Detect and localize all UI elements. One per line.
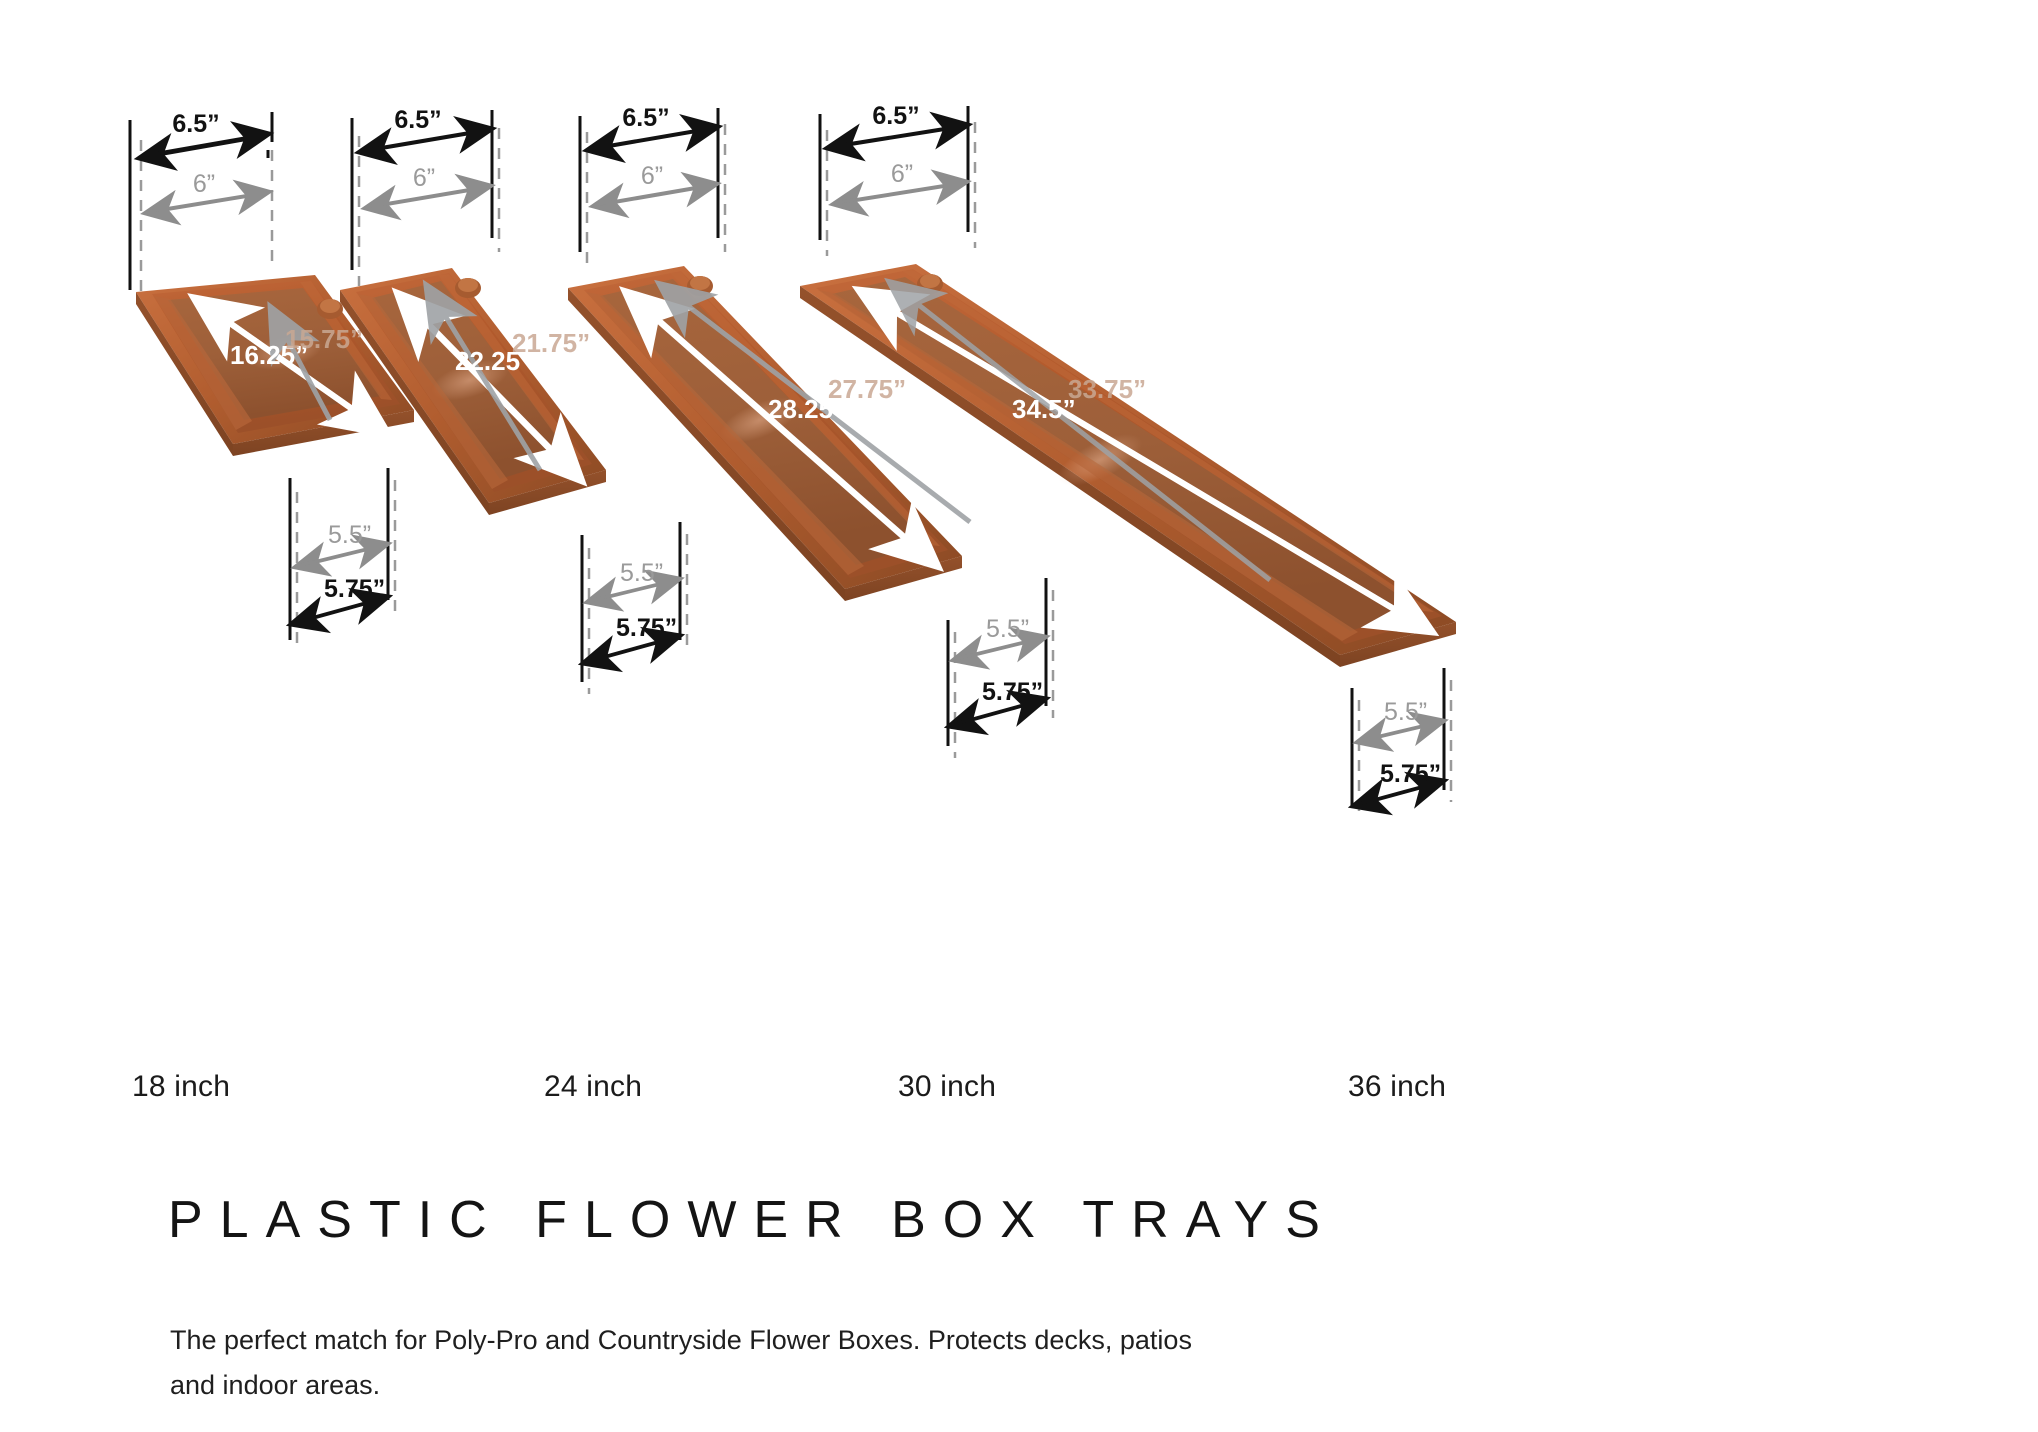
dimension-length-inner-24: 21.75” (512, 328, 590, 358)
dimension-top-inner-36: 6” (891, 160, 913, 188)
top-dimension-callout-18: 6.5” 6” (130, 110, 272, 300)
dimension-top-outer-24: 6.5” (394, 106, 441, 134)
dimension-bottom-outer-36: 5.75” (1380, 760, 1441, 788)
product-spec-diagram: 6.5” 6” 16.25” 15 (0, 0, 2038, 1432)
dimension-top-outer-36: 6.5” (872, 102, 919, 130)
tray-group-36-inch: 6.5” 6” 34.5” 33.75” (800, 102, 1456, 818)
bottom-dimension-callout-36: 5.5” 5.75” (1352, 668, 1451, 818)
dimension-length-inner-18: 15.75” (285, 324, 363, 354)
dimension-top-inner-24: 6” (413, 164, 435, 192)
top-dimension-callout-36: 6.5” 6” (820, 102, 975, 256)
bottom-dimension-callout-18: 5.5” 5.75” (290, 468, 395, 652)
dimension-bottom-outer-18: 5.75” (324, 575, 385, 603)
dimension-length-inner-30: 27.75” (828, 374, 906, 404)
size-label-18-inch: 18 inch (132, 1070, 230, 1104)
bottom-dimension-callout-30: 5.5” 5.75” (948, 578, 1053, 758)
top-dimension-callout-30: 6.5” 6” (580, 104, 725, 268)
dimension-top-inner-30: 6” (641, 162, 663, 190)
dimension-bottom-inner-18: 5.5” (328, 521, 371, 549)
size-label-30-inch: 30 inch (898, 1070, 996, 1104)
tray-group-30-inch: 6.5” 6” 28.25” 27.75” (568, 104, 1053, 758)
dimension-bottom-inner-36: 5.5” (1384, 698, 1427, 726)
dimension-top-outer-18: 6.5” (172, 110, 219, 138)
size-label-24-inch: 24 inch (544, 1070, 642, 1104)
dimension-length-inner-36: 33.75” (1068, 374, 1146, 404)
dimension-bottom-inner-30: 5.5” (986, 615, 1029, 643)
dimension-bottom-outer-30: 5.75” (982, 678, 1043, 706)
page-description: The perfect match for Poly-Pro and Count… (170, 1318, 1420, 1408)
dimension-bottom-outer-24: 5.75” (616, 614, 677, 642)
tray-group-18-inch: 6.5” 6” 16.25” 15 (130, 110, 414, 652)
top-dimension-callout-24: 6.5” 6” (352, 106, 499, 286)
dimension-top-outer-30: 6.5” (622, 104, 669, 132)
dimension-top-inner-18: 6” (193, 170, 215, 198)
size-label-36-inch: 36 inch (1348, 1070, 1446, 1104)
page-title: PLASTIC FLOWER BOX TRAYS (168, 1190, 1337, 1250)
dimension-bottom-inner-24: 5.5” (620, 559, 663, 587)
description-line-2: and indoor areas. (170, 1363, 1420, 1408)
dimension-length-outer-36: 34.5” (1012, 394, 1076, 424)
bottom-dimension-callout-24: 5.5” 5.75” (582, 522, 687, 694)
description-line-1: The perfect match for Poly-Pro and Count… (170, 1318, 1420, 1363)
